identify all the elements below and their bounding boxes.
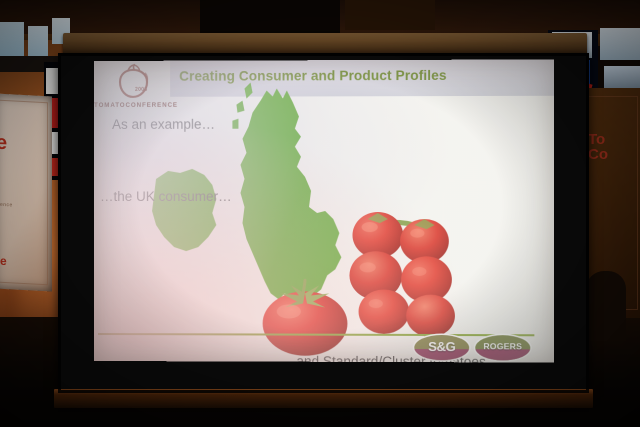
banner-left: e ence fe: [0, 93, 52, 291]
ceiling-panel-2: [345, 0, 435, 30]
projection-screen-assembly: 2008 TOMATOCONFERENCE Creating Consumer …: [58, 33, 589, 408]
slide-text-line-1: As an example…: [112, 117, 215, 132]
window-upper-right: [600, 28, 640, 60]
banner-left-border: [0, 100, 48, 286]
sg-logo: S&G: [414, 335, 469, 360]
ceiling-dark-panel: [200, 0, 340, 34]
banner-left-text: e: [0, 132, 6, 156]
banner-right-text: ToCo: [588, 132, 608, 162]
screen-roller-casing: [63, 33, 587, 55]
standard-tomato-svg: [255, 275, 356, 358]
slide-text-line-2: …the UK consumer…: [100, 189, 232, 204]
rogers-logo-label: ROGERS: [475, 341, 530, 351]
standard-tomato: [255, 275, 356, 358]
banner-right-line2: Co: [588, 146, 608, 163]
rogers-logo: ROGERS: [475, 335, 530, 360]
presentation-slide: 2008 TOMATOCONFERENCE Creating Consumer …: [94, 59, 554, 362]
window-upper-left-2: [28, 26, 48, 56]
sg-logo-label: S&G: [414, 339, 469, 354]
banner-left-small-text: ence: [0, 202, 13, 209]
window-upper-left-1: [0, 22, 24, 56]
conference-room-scene: e ence fe TOM ToCo 2008: [0, 0, 640, 427]
audience-silhouette: [586, 271, 626, 341]
screen-bottom-bar: [54, 389, 593, 408]
banner-left-text-lower: fe: [0, 254, 7, 269]
